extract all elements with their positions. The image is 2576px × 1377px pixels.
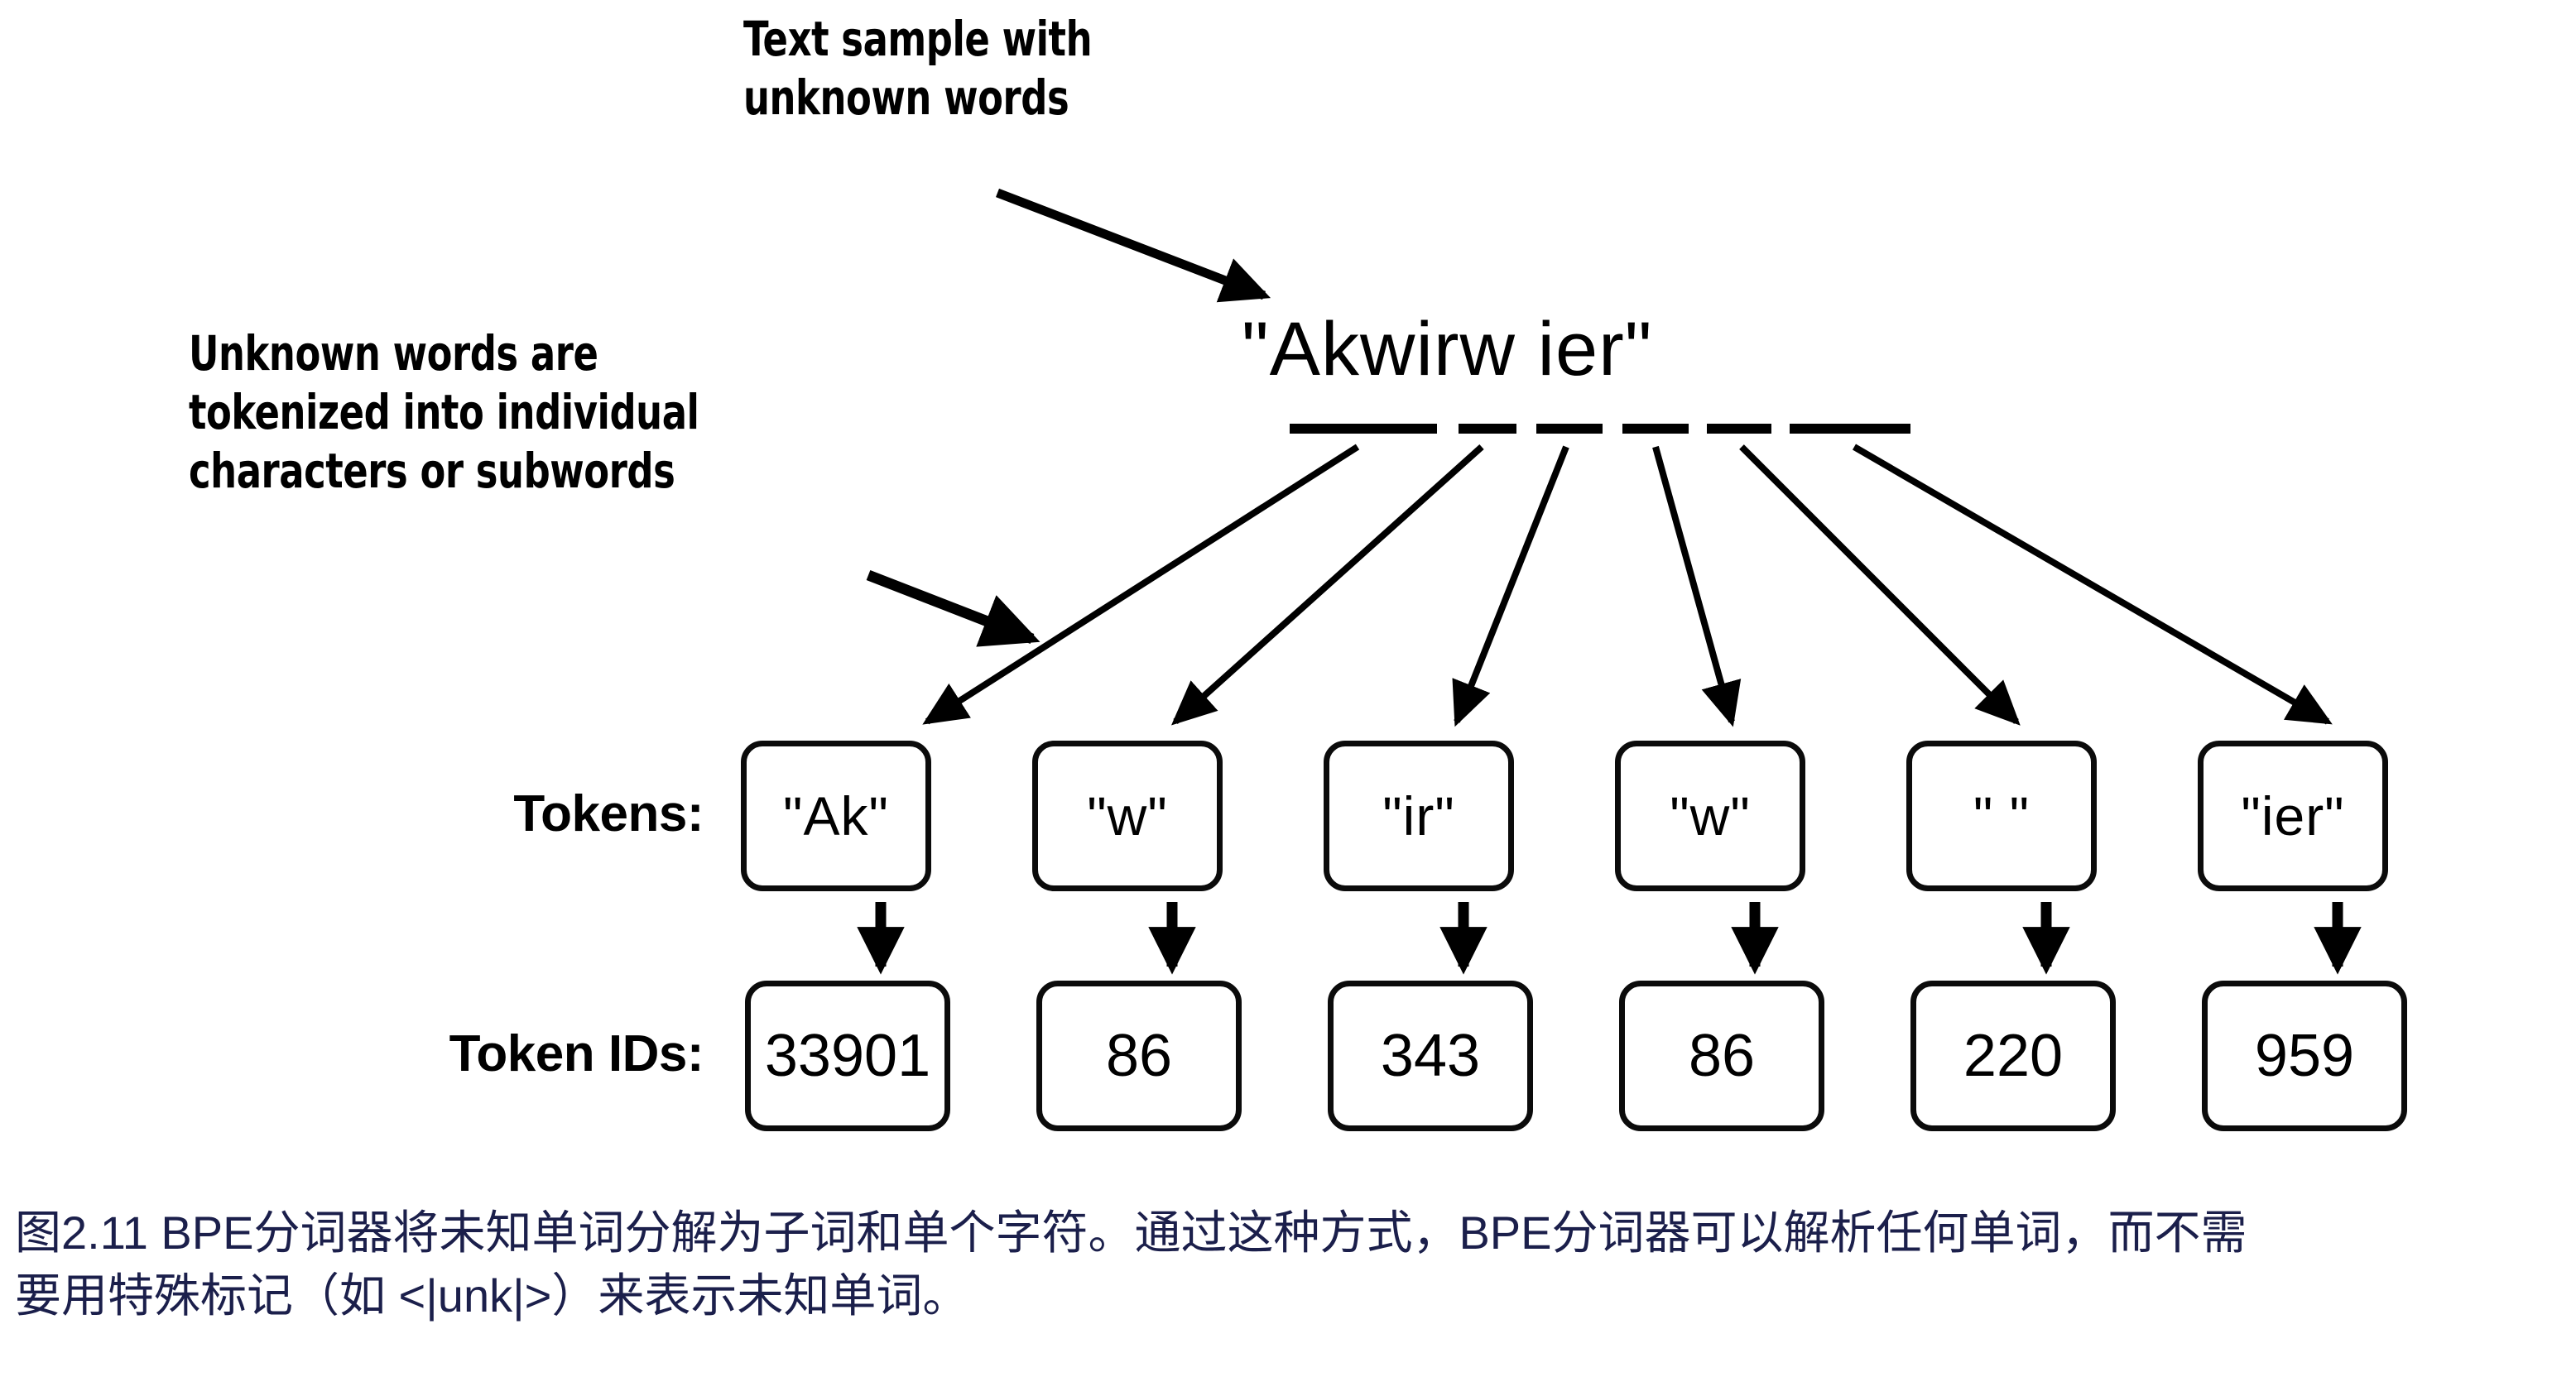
token-id-box: 220 — [1910, 981, 2116, 1131]
token-id-box: 33901 — [745, 981, 950, 1131]
token-underline — [1707, 424, 1771, 434]
arrow-segment-to-token — [1457, 447, 1566, 722]
token-underline — [1459, 424, 1516, 434]
callout-unknown-words: Unknown words are tokenized into individ… — [189, 324, 699, 500]
token-id-box: 959 — [2202, 981, 2407, 1131]
token-underline — [1290, 424, 1437, 434]
callout-text-sample: Text sample with unknown words — [743, 10, 1092, 127]
token-box: "ir" — [1324, 741, 1514, 891]
caption-line-1: 图2.11 BPE分词器将未知单词分解为子词和单个字符。通过这种方式，BPE分词… — [15, 1202, 2573, 1264]
arrow-segment-to-token — [927, 447, 1358, 722]
token-box: "w" — [1032, 741, 1223, 891]
token-box: "ier" — [2198, 741, 2388, 891]
row-label-tokens: Tokens: — [513, 784, 704, 843]
arrow-callout-to-sample — [997, 193, 1264, 295]
sample-text: "Akwirw ier" — [1242, 306, 1652, 393]
figure-canvas: Text sample with unknown words Unknown w… — [0, 0, 2576, 1377]
arrow-segment-to-token — [1742, 447, 2016, 722]
connector-overlay — [0, 0, 2576, 1377]
token-underline — [1622, 424, 1689, 434]
arrow-callout-to-tokens — [868, 575, 1032, 639]
token-id-box: 86 — [1619, 981, 1824, 1131]
token-box: "w" — [1615, 741, 1805, 891]
token-box: "Ak" — [741, 741, 931, 891]
caption-line-2: 要用特殊标记（如 <|unk|>）来表示未知单词。 — [15, 1264, 2573, 1327]
token-id-box: 86 — [1036, 981, 1242, 1131]
figure-caption: 图2.11 BPE分词器将未知单词分解为子词和单个字符。通过这种方式，BPE分词… — [15, 1202, 2573, 1327]
arrow-segment-to-token — [1656, 447, 1732, 722]
token-underline — [1536, 424, 1603, 434]
arrow-segment-to-token — [1175, 447, 1482, 722]
token-underline — [1790, 424, 1910, 434]
arrow-segment-to-token — [1854, 447, 2328, 722]
token-id-box: 343 — [1328, 981, 1533, 1131]
token-box: " " — [1906, 741, 2097, 891]
row-label-token-ids: Token IDs: — [449, 1024, 704, 1083]
